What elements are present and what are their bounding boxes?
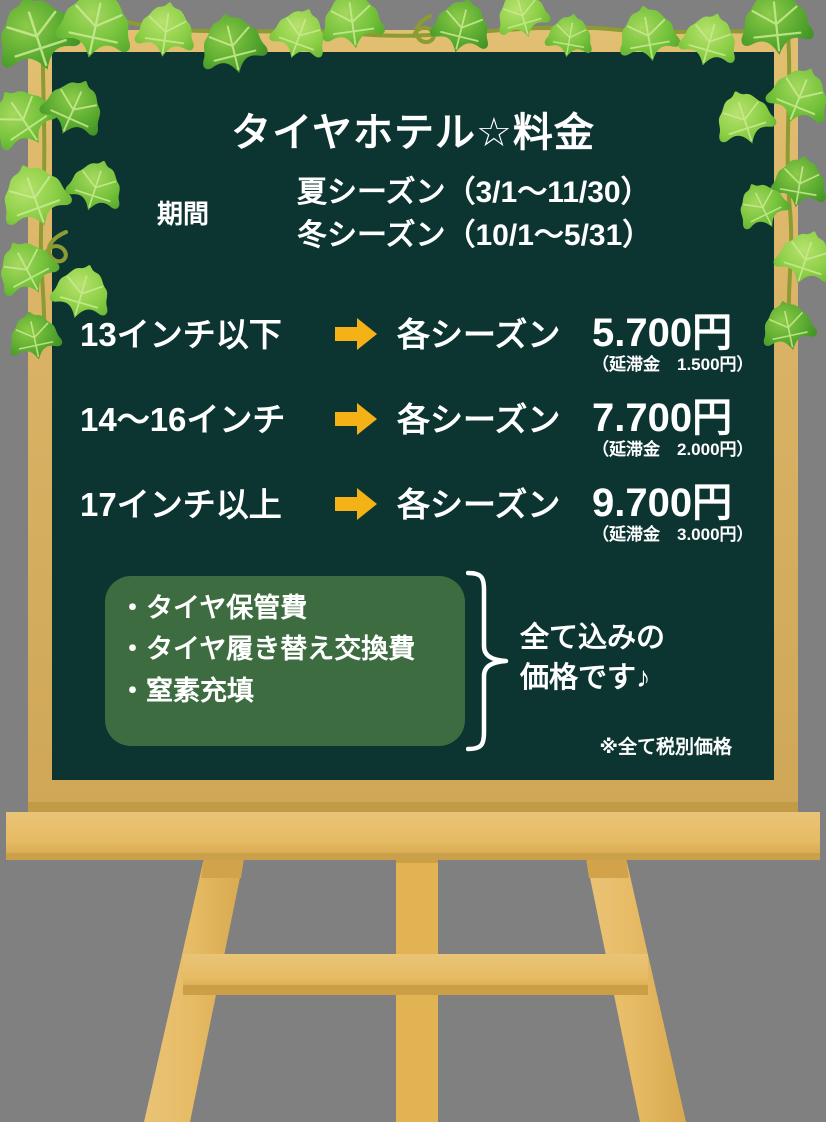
easel-right-leg [586, 858, 686, 1122]
right-arrow-icon [335, 403, 377, 435]
included-services-box: ・タイヤ保管費 ・タイヤ履き替え交換費 ・窒素充填 [105, 576, 465, 746]
list-item: ・タイヤ履き替え交換費 [119, 629, 415, 670]
list-item: ・窒素充填 [119, 671, 415, 712]
page-title: タイヤホテル☆料金 [52, 100, 774, 158]
period-label: 期間 [157, 194, 209, 231]
season-label: 各シーズン [397, 393, 560, 441]
list-item: ・タイヤ保管費 [119, 588, 415, 629]
tire-size-label: 13インチ以下 [80, 308, 282, 356]
season-label: 各シーズン [397, 308, 560, 356]
included-services-list: ・タイヤ保管費 ・タイヤ履き替え交換費 ・窒素充填 [119, 588, 415, 712]
price-row: 13インチ以下 各シーズン 5.700円 （延滞金 1.500円） [52, 302, 774, 387]
late-fee-note: （延滞金 1.500円） [592, 350, 754, 375]
right-arrow-icon [335, 318, 377, 350]
curly-brace-icon [466, 570, 510, 752]
tire-size-label: 17インチ以上 [80, 478, 282, 526]
callout-line-2: 価格です♪ [520, 658, 665, 698]
price-table: 13インチ以下 各シーズン 5.700円 （延滞金 1.500円） 14～16イ… [52, 302, 774, 557]
price-board: タイヤホテル☆料金 期間 夏シーズン（3/1～11/30） 冬シーズン（10/1… [28, 30, 798, 812]
period-line-winter: 冬シーズン（10/1～5/31） [297, 215, 652, 258]
easel-center-leg [396, 845, 438, 1122]
season-label: 各シーズン [397, 478, 560, 526]
late-fee-note: （延滞金 3.000円） [592, 520, 754, 545]
late-fee-note: （延滞金 2.000円） [592, 435, 754, 460]
right-arrow-icon [335, 488, 377, 520]
callout-line-1: 全て込みの [520, 618, 665, 658]
easel-left-leg [144, 858, 244, 1122]
all-inclusive-callout: 全て込みの 価格です♪ [520, 618, 665, 698]
price-row: 17インチ以上 各シーズン 9.700円 （延滞金 3.000円） [52, 472, 774, 557]
easel-tray [6, 812, 820, 860]
easel-crossbar [183, 954, 648, 995]
tire-size-label: 14～16インチ [80, 393, 285, 441]
period-line-summer: 夏シーズン（3/1～11/30） [297, 172, 652, 215]
price-row: 14～16インチ 各シーズン 7.700円 （延滞金 2.000円） [52, 387, 774, 472]
period-values: 夏シーズン（3/1～11/30） 冬シーズン（10/1～5/31） [297, 172, 652, 257]
chalkboard-surface: タイヤホテル☆料金 期間 夏シーズン（3/1～11/30） 冬シーズン（10/1… [52, 52, 774, 780]
tax-note: ※全て税別価格 [52, 732, 732, 759]
